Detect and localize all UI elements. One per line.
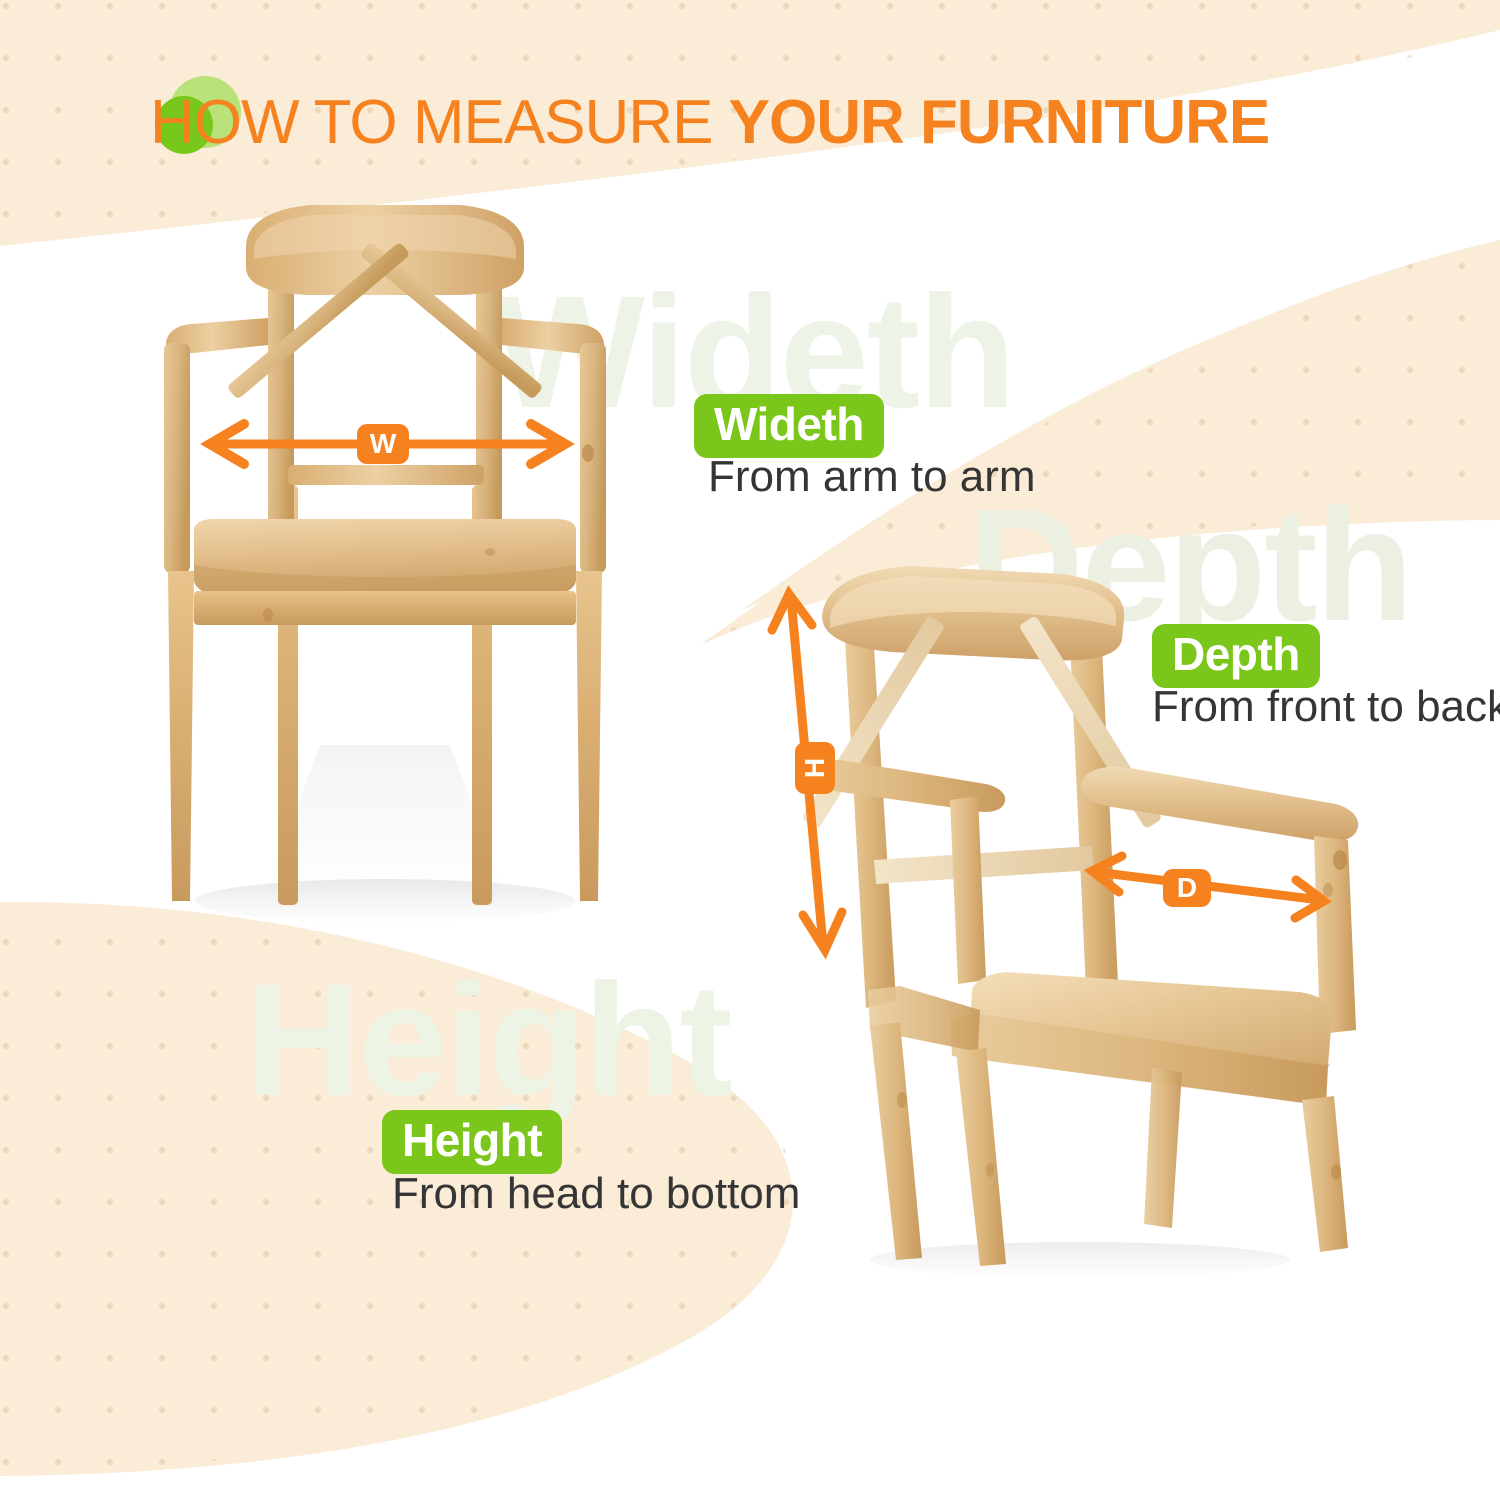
height-symbol: H: [801, 758, 829, 778]
badge-wideth: Wideth: [694, 394, 884, 458]
page-title-bold: YOUR FURNITURE: [729, 88, 1270, 157]
watermark-height: Height: [245, 960, 731, 1120]
height-symbol-chip: H: [795, 742, 835, 794]
width-symbol-chip: W: [357, 424, 409, 464]
page-title-text: HOW TO MEASURE YOUR FURNITURE: [150, 88, 1269, 157]
wooden-armchair-front-view: [150, 185, 620, 945]
page-title: HOW TO MEASURE YOUR FURNITURE: [150, 92, 1269, 154]
badge-height: Height: [382, 1110, 562, 1174]
caption-wideth: From arm to arm: [708, 455, 1036, 499]
width-symbol: W: [370, 430, 396, 458]
caption-height: From head to bottom: [392, 1172, 800, 1216]
page-title-light: HOW TO MEASURE: [150, 88, 729, 157]
badge-depth: Depth: [1152, 624, 1320, 688]
depth-symbol-chip: D: [1163, 869, 1211, 907]
infographic-canvas: Wideth Depth Height HOW TO MEASURE YOUR …: [0, 0, 1500, 1500]
depth-symbol: D: [1177, 874, 1197, 902]
caption-depth: From front to back: [1152, 685, 1500, 729]
